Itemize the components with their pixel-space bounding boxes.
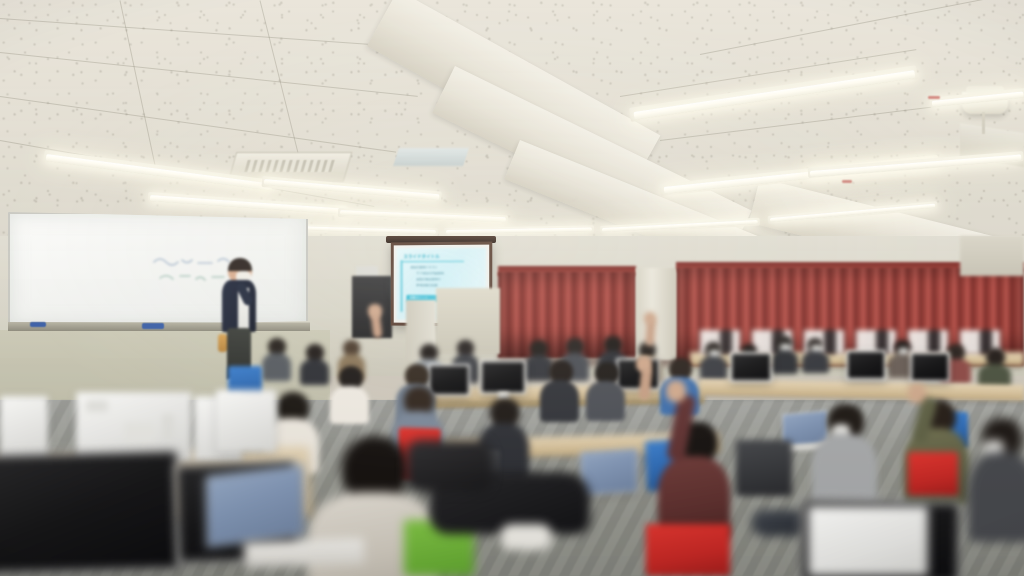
light-indicator-icon — [928, 96, 940, 99]
student — [540, 360, 580, 420]
student-body — [802, 351, 829, 373]
classroom-photo: スライドタイトル 項目の説明テキスト サブ項目の内容説明 追加の補足説明行 参考… — [0, 0, 1024, 576]
student-body — [540, 380, 579, 422]
student-body — [968, 452, 1024, 542]
student — [978, 348, 1012, 388]
raised-hand — [636, 356, 652, 372]
desktop-monitor — [846, 350, 886, 380]
chair-black — [736, 440, 792, 496]
desktop-monitor — [730, 352, 772, 382]
blue-marker[interactable] — [30, 322, 46, 327]
ac-vent-icon — [393, 148, 469, 166]
student — [968, 418, 1024, 538]
student-body — [300, 359, 329, 385]
monitor-rear-panel — [216, 390, 276, 452]
back-wall-strip — [960, 236, 1024, 276]
slide-bullet: 追加の補足説明行 — [416, 278, 484, 281]
monitor-screen — [482, 362, 524, 392]
open-laptop — [205, 464, 304, 548]
shoe — [500, 524, 552, 550]
student-body — [262, 353, 291, 381]
student — [700, 342, 728, 378]
monitor-screen — [912, 354, 948, 380]
raised-hand — [644, 312, 656, 324]
monitor-screen — [848, 352, 884, 378]
student — [330, 366, 370, 422]
light-indicator-icon — [842, 180, 852, 183]
raised-hand — [908, 384, 926, 403]
student-body — [586, 381, 625, 421]
slide-title-rule — [403, 261, 464, 262]
student-body — [771, 350, 798, 374]
desktop-monitor — [910, 352, 950, 382]
chair-red — [908, 452, 958, 496]
slide-accent-bar — [401, 260, 403, 312]
ceiling-speaker-stem — [982, 112, 985, 134]
monitor-rear-panel — [808, 506, 928, 576]
student — [300, 344, 330, 384]
bag-on-floor — [406, 440, 492, 492]
open-laptop — [580, 448, 638, 496]
keyboard — [244, 538, 365, 568]
student — [802, 338, 830, 372]
raised-hand — [368, 304, 382, 318]
student-body — [700, 356, 727, 380]
handheld-object — [218, 334, 227, 352]
desktop-monitor — [480, 360, 526, 394]
monitor-screen — [732, 354, 770, 380]
student — [812, 404, 878, 504]
student-body — [330, 386, 369, 424]
chair-red — [646, 524, 730, 576]
student-body — [812, 434, 877, 506]
slide-bullet: 項目の説明テキスト — [410, 266, 484, 269]
student — [770, 336, 798, 372]
blue-eraser[interactable] — [142, 323, 164, 329]
student — [262, 338, 292, 380]
ac-vent-slot — [244, 160, 335, 172]
slide-title: スライドタイトル — [404, 254, 479, 260]
monitor-screen — [0, 452, 179, 573]
slide-bullet: サブ項目の内容説明 — [416, 272, 486, 275]
raised-hand — [666, 380, 686, 402]
desktop-monitor — [0, 449, 182, 574]
slide-bullet: 参考情報の記載 — [416, 284, 476, 287]
desk — [700, 379, 1024, 401]
student — [586, 362, 626, 420]
